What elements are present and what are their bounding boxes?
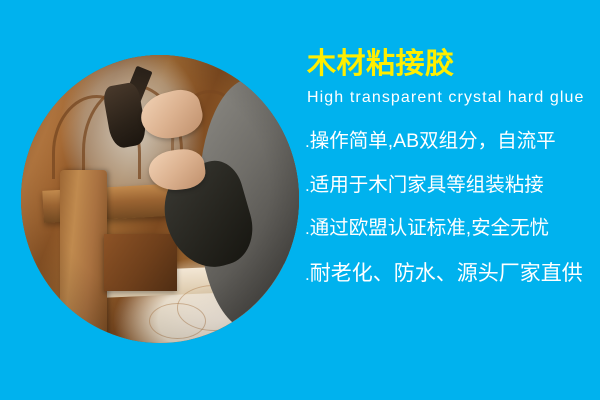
feature-label: 操作简单,AB双组分，自流平 xyxy=(310,130,556,152)
bench-ring-mark xyxy=(149,303,207,340)
product-title: 木材粘接胶 xyxy=(307,50,595,79)
product-banner: 木材粘接胶 High transparent crystal hard glue… xyxy=(0,0,600,400)
woodworking-product-photo xyxy=(21,55,299,343)
feature-item: .耐老化、防水、源头厂家直供 xyxy=(305,263,595,284)
wood-post-plank xyxy=(60,170,107,343)
jacket-orange-stripe xyxy=(285,103,298,129)
wood-joint-block xyxy=(104,234,176,292)
product-subtitle: High transparent crystal hard glue xyxy=(307,90,595,106)
feature-label: 耐老化、防水、源头厂家直供 xyxy=(310,262,583,285)
feature-item: .适用于木门家具等组装粘接 xyxy=(305,176,595,196)
feature-list: .操作简单,AB双组分，自流平 .适用于木门家具等组装粘接 .通过欧盟认证标准,… xyxy=(305,132,595,284)
photo-background xyxy=(21,55,299,343)
banner-text-column: 木材粘接胶 High transparent crystal hard glue… xyxy=(305,50,595,284)
feature-label: 适用于木门家具等组装粘接 xyxy=(310,174,544,196)
feature-label: 通过欧盟认证标准,安全无忧 xyxy=(310,217,549,239)
feature-item: .通过欧盟认证标准,安全无忧 xyxy=(305,219,595,239)
jacket-orange-stripe xyxy=(296,288,299,311)
feature-item: .操作简单,AB双组分，自流平 xyxy=(305,132,595,152)
